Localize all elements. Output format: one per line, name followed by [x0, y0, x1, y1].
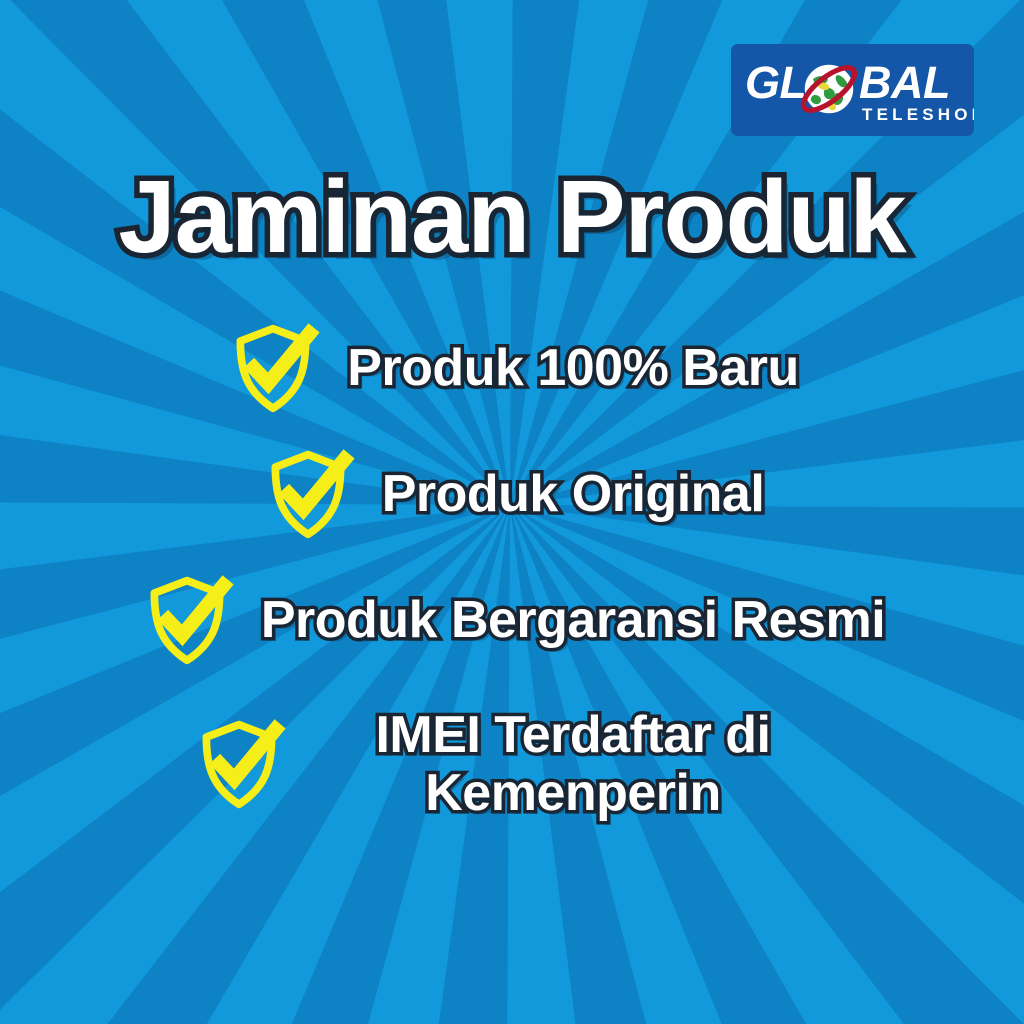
list-item: Produk Bergaransi Resmi	[0, 572, 1024, 668]
shield-check-icon	[139, 572, 235, 668]
promotional-poster: GL BAL TELESHOP	[0, 0, 1024, 1024]
page-title-text: Jaminan Produk	[118, 163, 905, 271]
guarantee-list: Produk 100% Baru Produk Original Produk …	[0, 320, 1024, 844]
logo-word-right: BAL	[859, 60, 950, 105]
shield-check-icon	[191, 716, 287, 812]
list-item: Produk Original	[0, 446, 1024, 542]
global-teleshop-logo[interactable]: GL BAL TELESHOP	[731, 44, 974, 136]
logo-inner: GL BAL TELESHOP	[731, 44, 974, 136]
guarantee-label: IMEI Terdaftar di Kemenperin	[313, 706, 833, 822]
list-item: IMEI Terdaftar di Kemenperin	[0, 706, 1024, 822]
list-item: Produk 100% Baru	[0, 320, 1024, 416]
guarantee-label: Produk Original	[382, 465, 765, 523]
logo-subtitle: TELESHOP	[862, 106, 974, 123]
shield-check-icon	[260, 446, 356, 542]
shield-check-icon	[225, 320, 321, 416]
globe-icon	[793, 53, 865, 125]
guarantee-label: Produk 100% Baru	[347, 339, 799, 397]
page-title: Jaminan Produk	[0, 163, 1024, 271]
guarantee-label: Produk Bergaransi Resmi	[261, 591, 885, 649]
